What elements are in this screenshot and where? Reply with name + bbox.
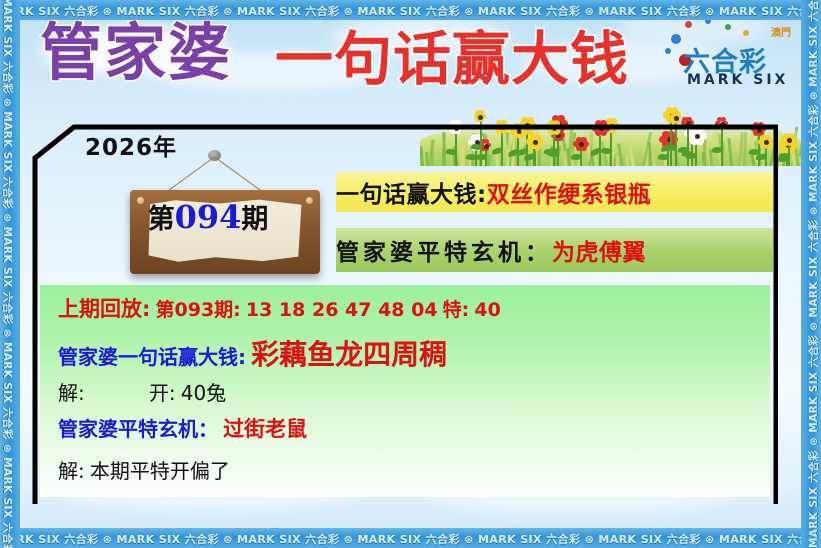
rope-icon (166, 157, 215, 193)
flower-icon (472, 109, 486, 123)
secret-value: 过街老鼠 (223, 417, 307, 441)
rope-icon (214, 157, 263, 193)
secret-label: 管家婆平特玄机： (58, 417, 218, 441)
logo-dot-icon (665, 48, 671, 54)
phrase-value: 彩藕鱼龙四周稠 (251, 338, 447, 371)
answer-one-label: 解: (58, 381, 85, 405)
replay-row: 上期回放: 第093期: 13 18 26 47 48 04 特: 40 (58, 293, 501, 323)
answer-one-open-label: 开: (149, 381, 176, 405)
lottery-poster: 管家婆 一句话赢大钱 澳門 六合彩 MARK SIX /*blades+flow… (0, 0, 821, 548)
banner-secret: 管家婆平特玄机： 为虎傅翼 (336, 228, 773, 272)
marquee-text: MARK SIX 六合彩 ⊛ MARK SIX 六合彩 ⊛ MARK SIX 六… (0, 0, 15, 548)
logo-dot-icon (725, 24, 731, 30)
marquee-border-left: MARK SIX 六合彩 ⊛ MARK SIX 六合彩 ⊛ MARK SIX 六… (0, 0, 20, 548)
replay-special-label: 特: (443, 299, 470, 321)
logo-dot-icon (671, 34, 681, 44)
flower-icon (780, 131, 796, 147)
mark-six-logo: 澳門 六合彩 MARK SIX (665, 18, 795, 98)
logo-name-en: MARK SIX (687, 72, 788, 88)
banner-secret-label: 管家婆平特玄机： (336, 233, 552, 267)
answer-two-row: 解: 本期平特开偏了 (58, 455, 230, 484)
issue-suffix: 期 (241, 204, 268, 235)
replay-label: 上期回放: (58, 297, 150, 321)
logo-dot-icon (743, 30, 749, 36)
wooden-board: 第094期 (130, 190, 320, 274)
issue-number: 094 (175, 198, 242, 236)
marquee-text: MARK SIX 六合彩 ⊛ MARK SIX 六合彩 ⊛ MARK SIX 六… (0, 531, 821, 547)
marquee-border-bottom: MARK SIX 六合彩 ⊛ MARK SIX 六合彩 ⊛ MARK SIX 六… (0, 528, 821, 548)
banner-secret-value: 为虎傅翼 (552, 233, 646, 267)
banner-phrase: 一句话赢大钱: 双丝作绠系银瓶 (336, 172, 773, 212)
flower-center-icon (787, 138, 792, 143)
year-label: 2026年 (85, 128, 177, 162)
secret-row: 管家婆平特玄机： 过街老鼠 (58, 413, 307, 443)
answer-two-label: 解: (58, 459, 85, 483)
logo-region-label: 澳門 (771, 24, 791, 39)
replay-special-number: 40 (474, 299, 500, 321)
phrase-row: 管家婆一句话赢大钱: 彩藕鱼龙四周稠 (58, 333, 447, 373)
marquee-border-top: MARK SIX 六合彩 ⊛ MARK SIX 六合彩 ⊛ MARK SIX 六… (0, 0, 821, 20)
hanging-issue-sign: 第094期 (108, 150, 338, 280)
banner-phrase-label: 一句话赢大钱: (336, 175, 487, 209)
logo-dot-icon (685, 21, 692, 28)
marquee-text: MARK SIX 六合彩 ⊛ MARK SIX 六合彩 ⊛ MARK SIX 六… (806, 0, 821, 548)
issue-number-text: 第094期 (130, 201, 286, 233)
issue-prefix: 第 (148, 204, 175, 235)
marquee-text: MARK SIX 六合彩 ⊛ MARK SIX 六合彩 ⊛ MARK SIX 六… (0, 3, 821, 19)
replay-issue: 第093期: (156, 299, 241, 321)
page-title-slogan: 一句话赢大钱 (275, 30, 629, 88)
phrase-label: 管家婆一句话赢大钱: (58, 345, 246, 369)
results-panel: 上期回放: 第093期: 13 18 26 47 48 04 特: 40 管家婆… (40, 285, 770, 497)
marquee-border-right: MARK SIX 六合彩 ⊛ MARK SIX 六合彩 ⊛ MARK SIX 六… (801, 0, 821, 548)
replay-numbers: 13 18 26 47 48 04 (246, 299, 438, 321)
answer-one-row: 解: 开: 40兔 (58, 377, 226, 406)
answer-two-value: 本期平特开偏了 (90, 459, 230, 483)
banner-phrase-value: 双丝作绠系银瓶 (487, 175, 652, 209)
answer-one-value: 40兔 (181, 381, 226, 405)
page-title-brand: 管家婆 (40, 22, 232, 84)
